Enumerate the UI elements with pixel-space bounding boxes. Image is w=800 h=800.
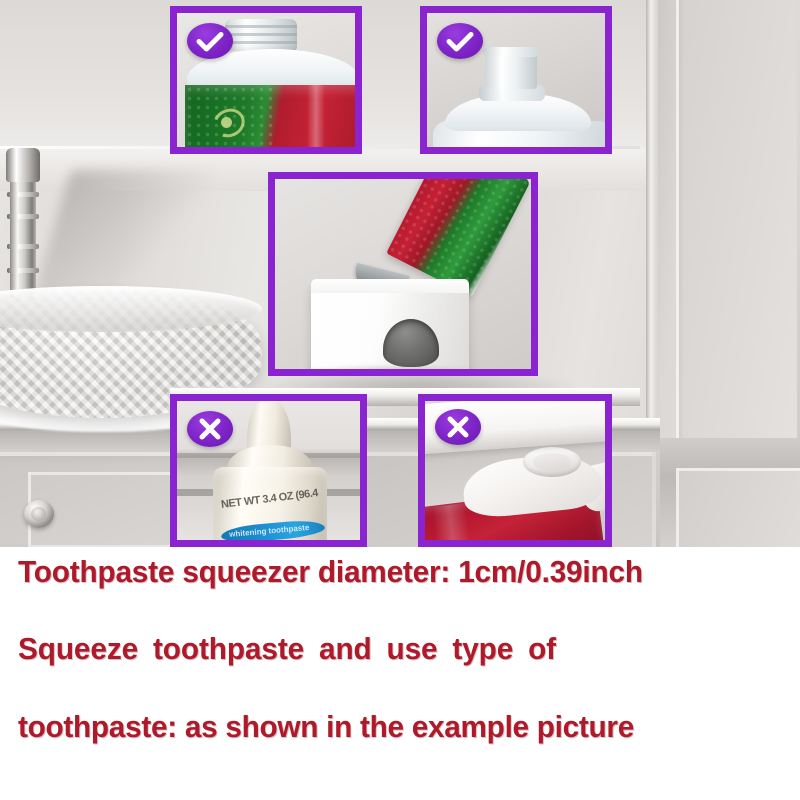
faucet-ring-1: [7, 192, 39, 197]
cabinet-door-base-inset: [676, 468, 800, 547]
tube-cap-top: [483, 47, 539, 57]
callout-content: [177, 13, 355, 147]
callout-content: NET WT 3.4 OZ (96.4 g) whitening toothpa…: [177, 401, 360, 540]
cap-ridge-2: [225, 33, 297, 36]
cross-badge-icon: [435, 409, 481, 445]
callout-box-incompatible-cream-bottle[interactable]: NET WT 3.4 OZ (96.4 g) whitening toothpa…: [170, 394, 367, 547]
faucet-ring-3: [7, 244, 39, 249]
callout-box-compatible-green-red-tube[interactable]: [170, 6, 362, 154]
product-image-page: NET WT 3.4 OZ (96.4 g) whitening toothpa…: [0, 0, 800, 800]
tube-cap-inner: [533, 453, 571, 471]
caption-line-usage-part1: Squeeze toothpaste and use type of: [18, 633, 556, 664]
tube-logo-dot: [221, 117, 232, 128]
squeezer-shadow: [303, 365, 483, 376]
callout-box-incompatible-red-tube[interactable]: [418, 394, 612, 547]
cross-badge-icon: [187, 411, 233, 447]
squeezer-top-face: [311, 279, 469, 293]
cabinet-door-inset: [676, 0, 797, 451]
cabinet-door-stile: [646, 0, 658, 470]
callout-content: [275, 179, 531, 369]
tube-mark: [575, 147, 589, 154]
callout-box-compatible-white-tube[interactable]: [420, 6, 612, 154]
callout-content: [425, 401, 605, 540]
caption-panel: Toothpaste squeezer diameter: 1cm/0.39in…: [0, 547, 800, 800]
faucet-ring-4: [7, 268, 39, 273]
drawer-knob-core: [31, 507, 46, 521]
callout-box-squeezer-in-use[interactable]: [268, 172, 538, 376]
product-photo: NET WT 3.4 OZ (96.4 g) whitening toothpa…: [0, 0, 800, 547]
tube-gloss-highlight: [307, 85, 325, 154]
callout-content: [427, 13, 605, 147]
check-badge-icon: [187, 23, 233, 59]
cap-ridge-3: [225, 41, 297, 44]
caption-line-usage-part2: toothpaste: as shown in the example pict…: [18, 711, 634, 742]
tube-gloss-highlight: [432, 503, 472, 547]
check-badge-icon: [437, 23, 483, 59]
faucet-head: [6, 148, 40, 182]
cap-ridge-1: [225, 25, 297, 28]
faucet-ring-2: [7, 214, 39, 219]
caption-line-diameter: Toothpaste squeezer diameter: 1cm/0.39in…: [18, 556, 643, 587]
